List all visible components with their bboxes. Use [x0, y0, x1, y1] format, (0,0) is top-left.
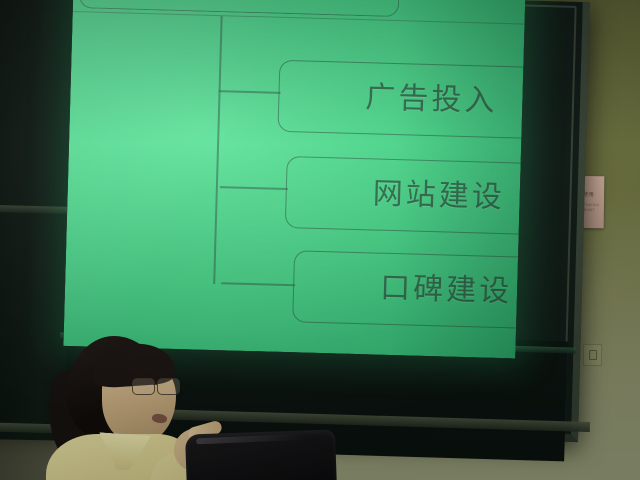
- glasses-bridge: [153, 384, 157, 385]
- projection-screen-vignette: [63, 0, 525, 358]
- wall-outlet-icon: [583, 344, 602, 366]
- projection-screen: 宣传 广告投入 网站建设 口碑建设: [63, 0, 525, 358]
- photo-scene: 正确使用 SIMPLY SPEAKING YOUR HEART 宣传 广告投入: [0, 0, 640, 480]
- person-glasses: [132, 378, 178, 394]
- glasses-lens-left: [132, 378, 155, 395]
- glasses-lens-right: [157, 378, 180, 395]
